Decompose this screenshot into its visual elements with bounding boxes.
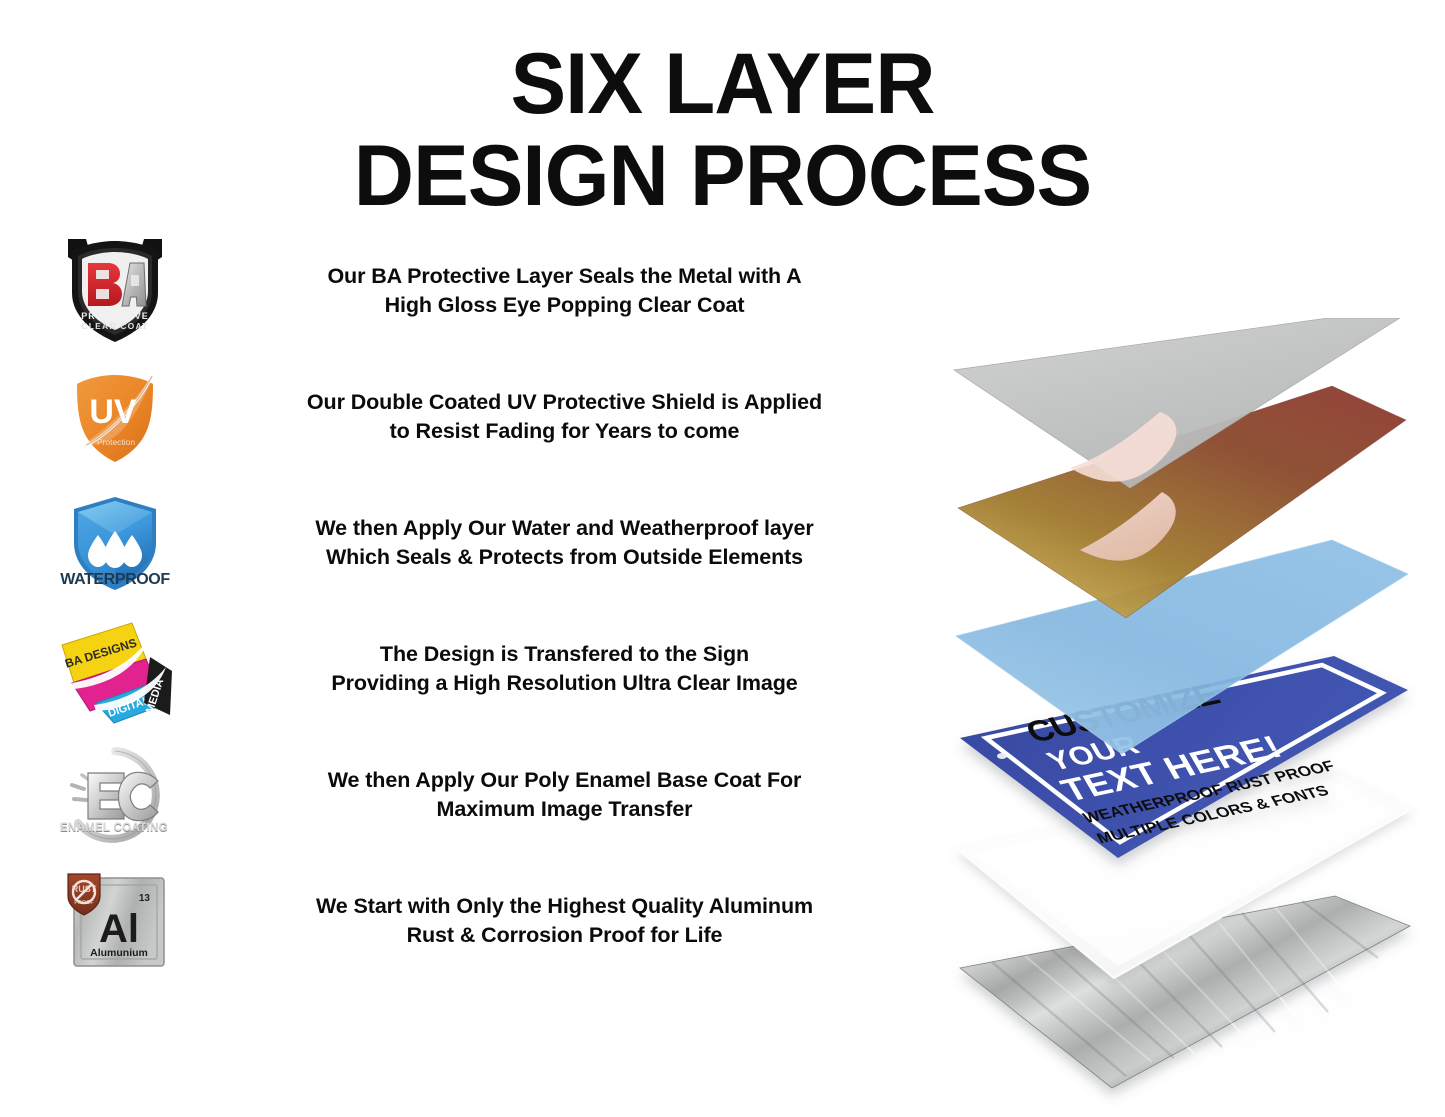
title-line-2: DESIGN PROCESS [22, 134, 1424, 218]
page-title: SIX LAYER DESIGN PROCESS [0, 42, 1445, 219]
list-item-text: Our BA Protective Layer Seals the Metal … [230, 262, 905, 319]
ba-protective-clear-coat-shield-icon: PROTECTIVE CLEAR COAT [56, 235, 174, 347]
row3-line2: Which Seals & Protects from Outside Elem… [230, 543, 899, 572]
icon-cell: 13 Al Alumunium RUST PROOF [0, 858, 230, 984]
uv-protection-shield-icon: UV Protection [63, 365, 167, 469]
row2-line1: Our Double Coated UV Protective Shield i… [230, 388, 899, 417]
row6-line1: We Start with Only the Highest Quality A… [230, 892, 899, 921]
ec-icon-label-highlight: ENAMEL COATING [60, 822, 168, 834]
waterproof-icon-label: WATERPROOF [60, 571, 170, 588]
list-item: 13 Al Alumunium RUST PROOF [0, 858, 905, 984]
icon-cell: ENAMEL COATING ENAMEL COATING [0, 732, 230, 858]
row1-line1: Our BA Protective Layer Seals the Metal … [230, 262, 899, 291]
ba-icon-sub1: PROTECTIVE [81, 311, 149, 321]
row6-line2: Rust & Corrosion Proof for Life [230, 921, 899, 950]
icon-cell: UV Protection [0, 354, 230, 480]
list-item-text: The Design is Transfered to the Sign Pro… [230, 640, 905, 697]
row1-line2: High Gloss Eye Popping Clear Coat [230, 291, 899, 320]
list-item: ENAMEL COATING ENAMEL COATING We then Ap… [0, 732, 905, 858]
aluminium-element-tile-icon: 13 Al Alumunium RUST PROOF [60, 870, 170, 972]
uv-icon-sub1: Protection [97, 437, 136, 447]
row2-line2: to Resist Fading for Years to come [230, 417, 899, 446]
row4-line2: Providing a High Resolution Ultra Clear … [230, 669, 899, 698]
al-icon-symbol: Al [99, 907, 139, 951]
list-item: BA DESIGNS DIGITAL MEDIA [0, 606, 905, 732]
row5-line1: We then Apply Our Poly Enamel Base Coat … [230, 766, 899, 795]
list-item-text: We Start with Only the Highest Quality A… [230, 892, 905, 949]
enamel-coating-emblem-icon: ENAMEL COATING ENAMEL COATING [54, 737, 176, 853]
title-line-1: SIX LAYER [22, 42, 1424, 126]
list-item: PROTECTIVE CLEAR COAT Our BA Protective … [0, 228, 905, 354]
exploded-layer-stack-diagram: CUSTOMIZE YOUR TEXT HERE! WEATHERPROOF R… [930, 318, 1445, 1108]
row5-line2: Maximum Image Transfer [230, 795, 899, 824]
list-item: WATERPROOF We then Apply Our Water and W… [0, 480, 905, 606]
list-item: UV Protection Our Double Coated UV Prote… [0, 354, 905, 480]
layer-description-list: PROTECTIVE CLEAR COAT Our BA Protective … [0, 228, 905, 984]
icon-cell: WATERPROOF [0, 480, 230, 606]
list-item-text: Our Double Coated UV Protective Shield i… [230, 388, 905, 445]
uv-icon-mono: UV [89, 393, 137, 431]
icon-cell: PROTECTIVE CLEAR COAT [0, 228, 230, 354]
infographic-page: SIX LAYER DESIGN PROCESS [0, 0, 1445, 1117]
ba-icon-sub2: CLEAR COAT [81, 321, 148, 331]
list-item-text: We then Apply Our Water and Weatherproof… [230, 514, 905, 571]
list-item-text: We then Apply Our Poly Enamel Base Coat … [230, 766, 905, 823]
icon-cell: BA DESIGNS DIGITAL MEDIA [0, 606, 230, 732]
al-icon-name: Alumunium [90, 947, 148, 959]
row4-line1: The Design is Transfered to the Sign [230, 640, 899, 669]
al-icon-number: 13 [139, 893, 151, 904]
row3-line1: We then Apply Our Water and Weatherproof… [230, 514, 899, 543]
waterproof-shield-icon: WATERPROOF [52, 491, 178, 595]
cmyk-design-transfer-icon: BA DESIGNS DIGITAL MEDIA [46, 611, 184, 727]
